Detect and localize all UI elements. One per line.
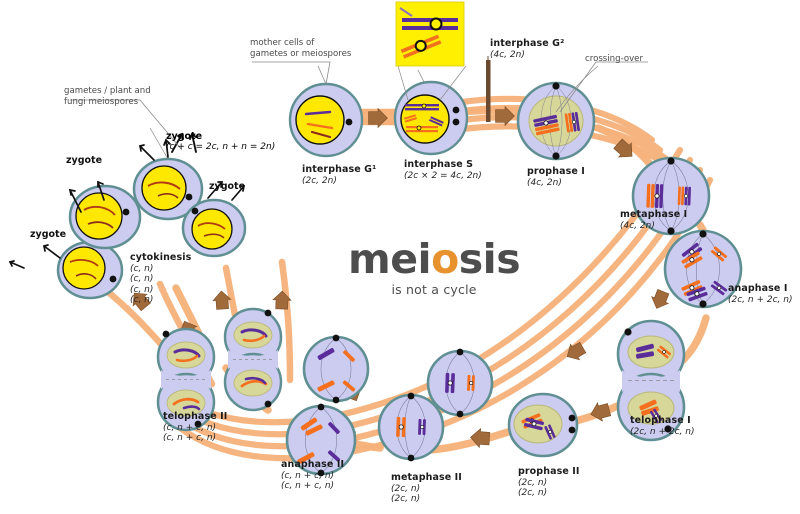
title-subtitle: is not a cycle [348, 282, 520, 297]
cell-gamete-2 [70, 186, 140, 248]
title-pre: mei [348, 235, 431, 283]
label-metaphase-1: metaphase I (4c, 2n) [620, 209, 687, 231]
zygote-formula: zygote (c + c = 2c, n + n = 2n) [166, 131, 275, 152]
label-cytokinesis-ploidy-3: (c, n) [130, 295, 191, 306]
label-anaphase-2-name: anaphase II [281, 459, 344, 471]
label-metaphase-2: metaphase II (2c, n) (2c, n) [391, 472, 462, 505]
label-telophase-2-ploidy-1: (c, n + c, n) [163, 433, 227, 444]
cell-prophase-1 [518, 66, 598, 160]
label-cytokinesis-name: cytokinesis [130, 252, 191, 264]
label-prophase-2-name: prophase II [518, 466, 580, 478]
zygote-label-3: zygote [209, 181, 245, 192]
cell-anaphase-2-b [304, 335, 368, 404]
label-prophase-2: prophase II (2c, n) (2c, n) [518, 466, 580, 499]
label-anaphase-1-ploidy-0: (2c, n + 2c, n) [728, 295, 793, 306]
label-interphase-g2-ploidy-0: (4c, 2n) [490, 50, 564, 61]
label-telophase-1-ploidy-0: (2c, n + 2c, n) [630, 427, 695, 438]
annotation-gametes: gametes / plant and fungi meiospores [64, 86, 151, 108]
label-interphase-s-ploidy-0: (2c × 2 = 4c, 2n) [404, 171, 482, 182]
label-cytokinesis-ploidy-0: (c, n) [130, 264, 191, 275]
zygote-label-2: zygote [66, 155, 102, 166]
label-interphase-s-name: interphase S [404, 159, 482, 171]
title-post: sis [459, 235, 520, 283]
label-metaphase-2-name: metaphase II [391, 472, 462, 484]
label-interphase-g1-name: interphase G¹ [302, 164, 376, 176]
cell-interphase-g1 [290, 66, 362, 156]
annotation-crossing-over: crossing-over [585, 54, 643, 65]
page-title: meiosis is not a cycle [348, 238, 520, 297]
cell-gamete-4 [183, 200, 245, 256]
label-cytokinesis: cytokinesis (c, n) (c, n) (c, n) (c, n) [130, 252, 191, 306]
label-prophase-2-ploidy-0: (2c, n) [518, 478, 580, 489]
label-metaphase-2-ploidy-1: (2c, n) [391, 494, 462, 505]
label-prophase-1-name: prophase I [527, 166, 585, 178]
label-cytokinesis-ploidy-1: (c, n) [130, 274, 191, 285]
label-interphase-g1: interphase G¹ (2c, 2n) [302, 164, 376, 186]
label-telophase-1-name: telophase I [630, 415, 695, 427]
label-interphase-g2-name: interphase G² [490, 38, 564, 50]
label-metaphase-1-name: metaphase I [620, 209, 687, 221]
cell-telophase-2-a [225, 309, 281, 410]
cell-prophase-2 [509, 394, 577, 456]
label-anaphase-2-ploidy-1: (c, n + c, n) [281, 481, 344, 492]
mother-cells-leader-line [252, 62, 330, 84]
label-interphase-s: interphase S (2c × 2 = 4c, 2n) [404, 159, 482, 181]
label-anaphase-2: anaphase II (c, n + c, n) (c, n + c, n) [281, 459, 344, 492]
label-prophase-2-ploidy-1: (2c, n) [518, 488, 580, 499]
label-anaphase-2-ploidy-0: (c, n + c, n) [281, 471, 344, 482]
title-accent-o: o [431, 235, 459, 283]
cell-interphase-s [395, 70, 467, 154]
label-telophase-2-name: telophase II [163, 411, 227, 423]
zygote-label-1: zygote [30, 229, 66, 240]
label-interphase-g2: interphase G² (4c, 2n) [490, 38, 564, 60]
annotation-gametes-line2: fungi meiospores [64, 97, 151, 108]
annotation-mother-cells: mother cells of gametes or meiospores [250, 38, 351, 60]
annotation-mother-cells-line1: mother cells of [250, 38, 351, 49]
label-anaphase-1: anaphase I (2c, n + 2c, n) [728, 283, 793, 305]
label-telophase-2: telophase II (c, n + c, n) (c, n + c, n) [163, 411, 227, 444]
label-anaphase-1-name: anaphase I [728, 283, 793, 295]
meiosis-diagram: meiosis is not a cycle mother cells of g… [0, 0, 800, 514]
label-cytokinesis-ploidy-2: (c, n) [130, 285, 191, 296]
label-prophase-1: prophase I (4c, 2n) [527, 166, 585, 188]
label-interphase-g1-ploidy-0: (2c, 2n) [302, 176, 376, 187]
label-metaphase-2-ploidy-0: (2c, n) [391, 484, 462, 495]
label-metaphase-1-ploidy-0: (4c, 2n) [620, 221, 687, 232]
annotation-gametes-line1: gametes / plant and [64, 86, 151, 97]
label-prophase-1-ploidy-0: (4c, 2n) [527, 178, 585, 189]
annotation-mother-cells-line2: gametes or meiospores [250, 49, 351, 60]
label-telophase-1: telophase I (2c, n + 2c, n) [630, 415, 695, 437]
cell-metaphase-2-b [428, 349, 492, 418]
zygote-formula-name: zygote [166, 131, 275, 142]
cell-gamete-1 [58, 242, 122, 298]
zygote-formula-ploidy: (c + c = 2c, n + n = 2n) [166, 142, 275, 152]
label-telophase-2-ploidy-0: (c, n + c, n) [163, 423, 227, 434]
